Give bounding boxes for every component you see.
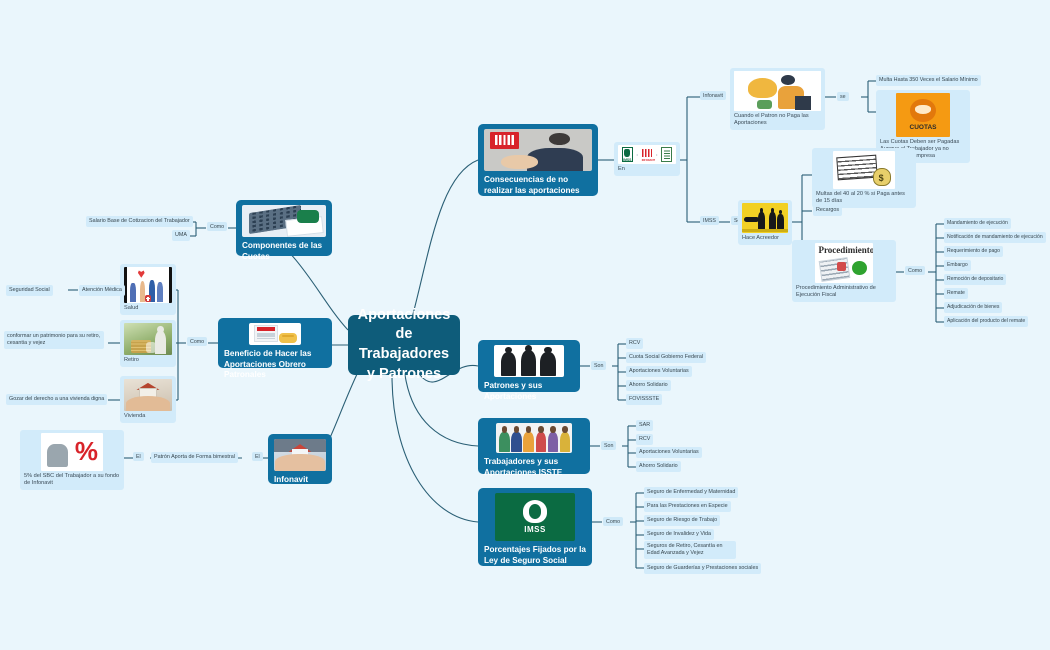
document-icon xyxy=(661,147,672,162)
pill-step-4[interactable]: Embargo xyxy=(944,260,971,271)
beneficio-thumbnail xyxy=(249,323,301,345)
pill-patrones-ahorro[interactable]: Ahorro Solidario xyxy=(626,380,671,391)
pill-patrones-rcv[interactable]: RCV xyxy=(626,338,643,349)
connector-como-beneficio: Como xyxy=(187,337,207,346)
logo-icon-row: • • xyxy=(618,145,676,164)
cuotas-badge-word: CUOTAS xyxy=(910,124,937,131)
consecuencias-thumbnail xyxy=(484,129,592,171)
node-retiro[interactable]: Retiro xyxy=(120,320,176,367)
connector-infonavit: Infonavit xyxy=(700,91,726,100)
pill-step-3[interactable]: Requerimiento de pago xyxy=(944,246,1003,257)
pill-seguro-enfermedad[interactable]: Seguro de Enfermedad y Maternidad xyxy=(644,487,738,498)
pill-trab-rcv[interactable]: RCV xyxy=(636,434,653,445)
procedimientos-thumbnail: Procedimientos xyxy=(815,243,873,283)
pill-multa-350[interactable]: Multa Hasta 350 Veces el Salario Mínimo xyxy=(876,75,981,86)
connector-imss: IMSS xyxy=(700,216,719,225)
pill-seguro-invalidez[interactable]: Seguro de Invalidez y Vida xyxy=(644,529,714,540)
pill-salario-base[interactable]: Salario Base de Cotizacion del Trabajado… xyxy=(86,216,193,227)
node-procedimiento-label: Procedimiento Administrativo de Ejecució… xyxy=(796,285,892,299)
node-componentes-label: Componentes de las Cuotas xyxy=(242,241,326,262)
connector-son-trabajadores: Son xyxy=(601,441,616,450)
node-patrones-label: Patrones y sus Aportaciones xyxy=(484,381,574,402)
pill-patrimonio-retiro[interactable]: conformar un patrimonio para su retiro, … xyxy=(4,331,104,349)
pill-trab-sar[interactable]: SAR xyxy=(636,420,653,431)
node-salud-label: Salud xyxy=(124,305,172,312)
node-salud[interactable]: Salud xyxy=(120,264,176,315)
node-multas-label: Multas del 40 al 20 % si Paga antes de 1… xyxy=(816,191,912,205)
vivienda-thumbnail xyxy=(124,379,172,411)
node-trabajadores-issste[interactable]: Trabajadores y sus Aportaciones ISSTE xyxy=(478,418,590,474)
pill-seguro-guarderias[interactable]: Seguro de Guarderías y Prestaciones soci… xyxy=(644,563,761,574)
node-consecuencias[interactable]: Consecuencias de no realizar las aportac… xyxy=(478,124,598,196)
node-5-porciento-label: 5% del SBC del Trabajador a su fondo de … xyxy=(24,473,120,487)
node-hace-acreedor-label: Hace Acreedor xyxy=(742,235,788,242)
pill-trab-voluntarias[interactable]: Aportaciones Voluntarias xyxy=(636,447,702,458)
node-trabajadores-label: Trabajadores y sus Aportaciones ISSTE xyxy=(484,457,584,478)
pill-prestaciones-especie[interactable]: Para las Prestaciones en Especie xyxy=(644,501,731,512)
node-5-porciento-sbc[interactable]: % 5% del SBC del Trabajador a su fondo d… xyxy=(20,430,124,490)
pill-patrones-cuota-social[interactable]: Cuota Social Gobierno Federal xyxy=(626,352,706,363)
node-consecuencias-label: Consecuencias de no realizar las aportac… xyxy=(484,175,592,196)
pill-step-8[interactable]: Aplicación del producto del remate xyxy=(944,316,1028,327)
mindmap-canvas: Aportaciones de Trabajadores y Patrones … xyxy=(0,0,1050,650)
node-porcentajes-label: Porcentajes Fijados por la Ley de Seguro… xyxy=(484,545,586,566)
pill-step-2[interactable]: Notificación de mandamiento de ejecución xyxy=(944,232,1046,243)
center-node-label: Aportaciones de Trabajadores y Patrones xyxy=(356,306,452,384)
multas-thumbnail xyxy=(833,151,895,189)
pill-step-6[interactable]: Remate xyxy=(944,288,968,299)
pill-step-7[interactable]: Adjudicación de bienes xyxy=(944,302,1002,313)
dot-separator-icon: • xyxy=(656,152,657,157)
pill-seguridad-social[interactable]: Seguridad Social xyxy=(6,285,53,296)
dot-separator-icon: • xyxy=(637,152,638,157)
connector-son-patrones: Son xyxy=(591,361,606,370)
node-vivienda[interactable]: Vivienda xyxy=(120,376,176,423)
node-en-logos[interactable]: • • En xyxy=(614,142,680,176)
node-multas-40-20[interactable]: Multas del 40 al 20 % si Paga antes de 1… xyxy=(812,148,916,208)
node-infonavit[interactable]: Infonavit xyxy=(268,434,332,484)
salud-thumbnail xyxy=(124,267,172,303)
pill-atencion-medica[interactable]: Atención Médica xyxy=(79,285,125,296)
trabajadores-thumbnail xyxy=(496,423,572,453)
pill-seguros-retiro[interactable]: Seguros de Retiro, Cesantía en Edad Avan… xyxy=(644,541,736,559)
node-cuando-patron-no-paga[interactable]: Cuando el Patron no Paga las Aportacione… xyxy=(730,68,825,130)
porcentaje-thumbnail: % xyxy=(41,433,103,471)
pill-seguro-riesgo[interactable]: Seguro de Riesgo de Trabajo xyxy=(644,515,720,526)
retiro-thumbnail xyxy=(124,323,172,355)
pill-step-5[interactable]: Remoción de depositario xyxy=(944,274,1006,285)
connector-el-left: El xyxy=(133,452,144,461)
node-en-label: En xyxy=(618,166,676,173)
node-procedimiento-fiscal[interactable]: Procedimientos Procedimiento Administrat… xyxy=(792,240,896,302)
procedimientos-image-title: Procedimientos xyxy=(818,245,873,255)
connector-como-porcentajes: Como xyxy=(603,517,623,526)
pill-step-1[interactable]: Mandamiento de ejecución xyxy=(944,218,1011,229)
patrones-thumbnail xyxy=(494,345,564,377)
node-vivienda-label: Vivienda xyxy=(124,413,172,420)
node-beneficio-label: Beneficio de Hacer las Aportaciones Obre… xyxy=(224,349,326,381)
node-retiro-label: Retiro xyxy=(124,357,172,364)
imss-logo-thumbnail: IMSS xyxy=(495,493,575,541)
node-componentes-cuotas[interactable]: Componentes de las Cuotas xyxy=(236,200,332,256)
cuotas-thumbnail: CUOTAS xyxy=(896,93,950,137)
node-patrones-aportaciones[interactable]: Patrones y sus Aportaciones xyxy=(478,340,580,392)
node-beneficio-aportaciones[interactable]: Beneficio de Hacer las Aportaciones Obre… xyxy=(218,318,332,368)
connector-el-right: El xyxy=(252,452,263,461)
imss-logo-word: IMSS xyxy=(524,525,546,534)
hace-acreedor-thumbnail xyxy=(742,203,788,233)
pill-vivienda-digna[interactable]: Gozar del derecho a una vivienda digna xyxy=(6,394,107,405)
infonavit-thumbnail xyxy=(274,439,326,471)
node-infonavit-label: Infonavit xyxy=(274,475,326,486)
connector-como-componentes: Como xyxy=(207,222,227,231)
center-node[interactable]: Aportaciones de Trabajadores y Patrones xyxy=(348,315,460,375)
node-cuando-patron-label: Cuando el Patron no Paga las Aportacione… xyxy=(734,113,821,127)
node-porcentajes-ley[interactable]: IMSS Porcentajes Fijados por la Ley de S… xyxy=(478,488,592,566)
componentes-thumbnail xyxy=(242,205,326,237)
connector-se-infonavit: se xyxy=(837,92,849,101)
imss-logo-icon xyxy=(622,147,633,162)
node-hace-acreedor[interactable]: Hace Acreedor xyxy=(738,200,792,245)
pill-patrones-fovissste[interactable]: FOVISSSTE xyxy=(626,394,662,405)
patron-no-paga-thumbnail xyxy=(734,71,821,111)
pill-recargos[interactable]: Recargos xyxy=(813,205,842,216)
imss-eagle-icon xyxy=(523,500,547,522)
pill-patron-aporta-bimestral[interactable]: Patrón Aporta de Forma bimestral xyxy=(151,452,238,463)
pill-uma[interactable]: UMA xyxy=(172,230,190,241)
pill-trab-ahorro[interactable]: Ahorro Solidario xyxy=(636,461,681,472)
connector-como-procedimiento: Como xyxy=(905,266,925,275)
infonavit-logo-icon xyxy=(642,147,652,162)
pill-patrones-voluntarias[interactable]: Aportaciones Voluntarias xyxy=(626,366,692,377)
